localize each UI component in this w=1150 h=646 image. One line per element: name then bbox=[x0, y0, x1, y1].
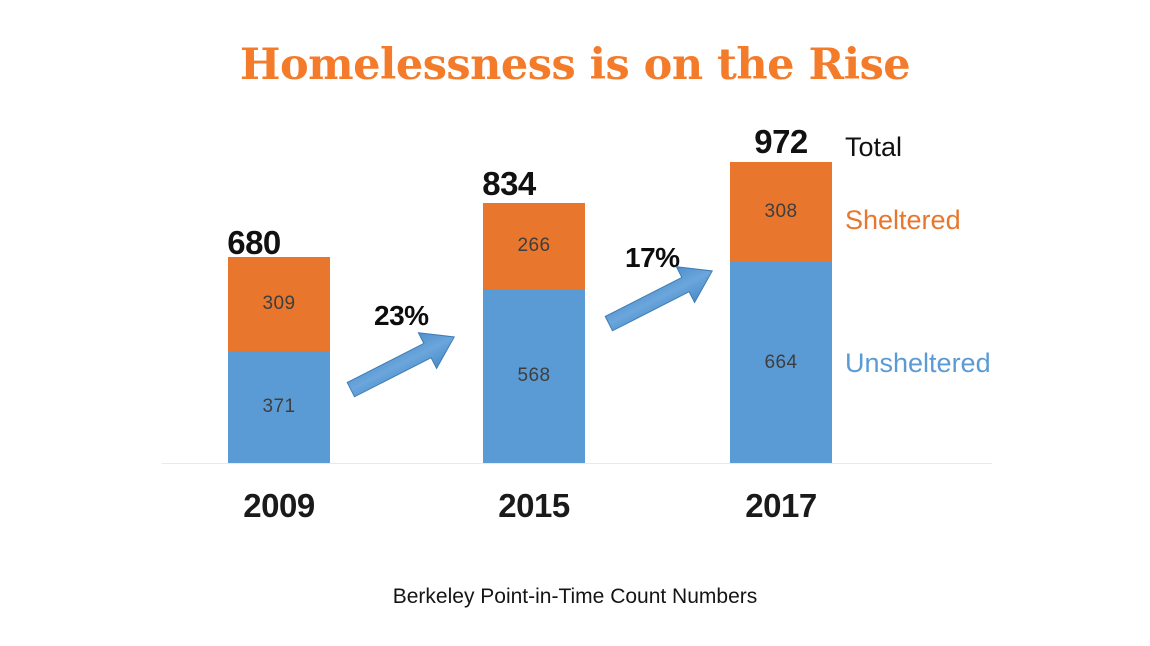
slide-canvas: Homelessness is on the Rise 680 309 371 … bbox=[0, 0, 1150, 646]
bar-segment-unsheltered-2017[interactable]: 664 bbox=[730, 262, 832, 463]
bar-segment-sheltered-2015[interactable]: 266 bbox=[483, 203, 585, 289]
bar-stack-2017[interactable]: 308 664 bbox=[730, 162, 832, 463]
chart-caption: Berkeley Point-in-Time Count Numbers bbox=[0, 585, 1150, 609]
growth-arrow-2015-2017 bbox=[602, 252, 732, 332]
bar-stack-2009[interactable]: 309 371 bbox=[228, 257, 330, 463]
growth-arrow-2009-2015 bbox=[344, 318, 474, 398]
total-label-2017: 972 bbox=[706, 123, 856, 161]
legend-item-sheltered: Sheltered bbox=[845, 205, 961, 236]
x-axis-label-2009: 2009 bbox=[204, 487, 354, 525]
axis-baseline bbox=[162, 463, 992, 464]
legend-item-total: Total bbox=[845, 132, 902, 163]
bar-segment-label-unsheltered-2009: 371 bbox=[263, 396, 296, 418]
chart-plot-area: 680 309 371 2009 23% 8 bbox=[0, 0, 1150, 646]
bar-segment-label-sheltered-2015: 266 bbox=[518, 235, 551, 257]
bar-segment-sheltered-2009[interactable]: 309 bbox=[228, 257, 330, 351]
legend-item-unsheltered: Unsheltered bbox=[845, 348, 991, 379]
bar-segment-label-sheltered-2009: 309 bbox=[263, 293, 296, 315]
bar-segment-label-sheltered-2017: 308 bbox=[765, 201, 798, 223]
bar-segment-label-unsheltered-2015: 568 bbox=[518, 365, 551, 387]
bar-stack-2015[interactable]: 266 568 bbox=[483, 203, 585, 463]
x-axis-label-2017: 2017 bbox=[706, 487, 856, 525]
bar-segment-label-unsheltered-2017: 664 bbox=[765, 352, 798, 374]
bar-segment-unsheltered-2015[interactable]: 568 bbox=[483, 289, 585, 463]
bar-segment-unsheltered-2009[interactable]: 371 bbox=[228, 351, 330, 463]
bar-segment-sheltered-2017[interactable]: 308 bbox=[730, 162, 832, 262]
total-label-2015: 834 bbox=[434, 165, 584, 203]
x-axis-label-2015: 2015 bbox=[459, 487, 609, 525]
